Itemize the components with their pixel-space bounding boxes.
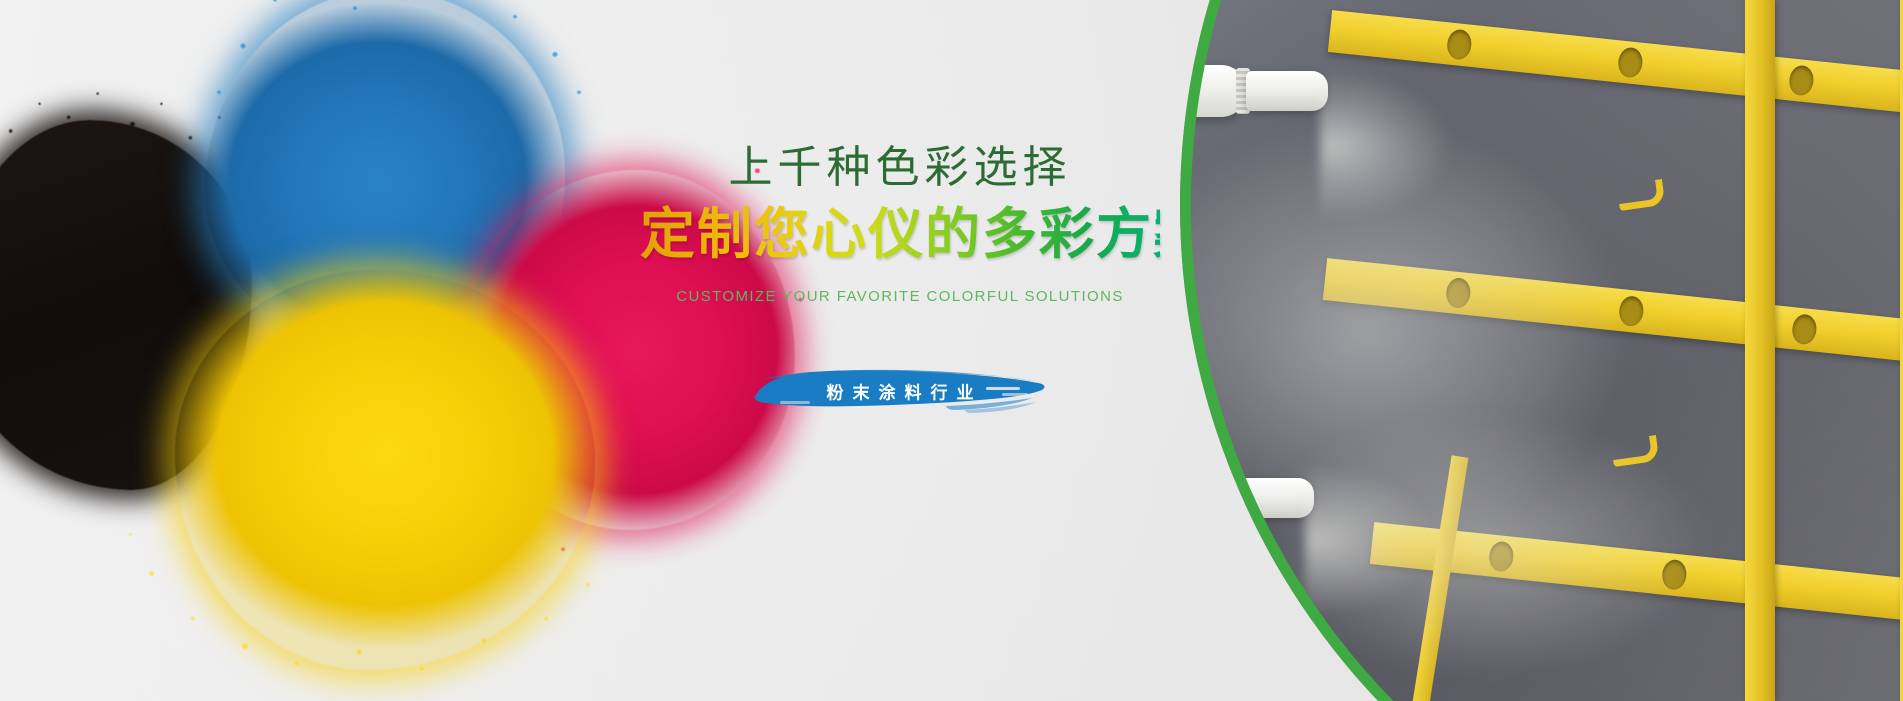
gun-brand-label: Encore [1008, 86, 1070, 106]
gun-gloss-highlight [1000, 478, 1104, 490]
gun-neck [1085, 472, 1235, 524]
gun-gloss-highlight [1000, 70, 1113, 82]
headline-secondary: 定制您心仪的多彩方案 [640, 203, 1160, 266]
spray-gun-lower [1000, 450, 1410, 560]
powder-spray-cone [1320, 30, 1650, 260]
gun-neck [1092, 65, 1247, 117]
gun-barrel [1000, 468, 1120, 530]
cmyk-powder-image [0, 0, 720, 701]
industry-badge: 粉末涂料行业 [640, 361, 1160, 421]
promo-banner: Encore 上千种色彩选择 定制您心仪的 [0, 0, 1903, 701]
rack-hole [1791, 313, 1818, 345]
gun-nozzle-tip [1246, 71, 1328, 111]
gun-nozzle-tip [1234, 478, 1314, 518]
subtitle-english: CUSTOMIZE YOUR FAVORITE COLORFUL SOLUTIO… [640, 288, 1160, 305]
industry-badge-label: 粉末涂料行业 [818, 379, 983, 404]
banner-copy-block: 上千种色彩选择 定制您心仪的多彩方案 CUSTOMIZE YOUR FAVORI… [640, 140, 1160, 421]
rack-hole [1788, 64, 1815, 96]
powder-spray-cone [1305, 430, 1625, 650]
headline-primary: 上千种色彩选择 [640, 140, 1160, 195]
gun-barrel [1000, 60, 1130, 122]
